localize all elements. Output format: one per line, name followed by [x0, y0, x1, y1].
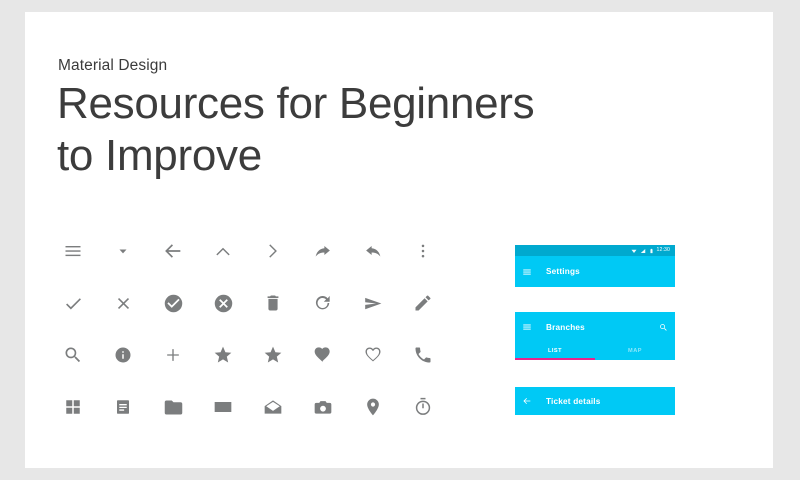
delete-icon[interactable] [248, 277, 298, 329]
tab-indicator [515, 358, 595, 361]
status-bar: 12:30 [515, 245, 675, 256]
send-icon[interactable] [348, 277, 398, 329]
menu-icon[interactable] [48, 225, 98, 277]
timer-icon[interactable] [398, 381, 448, 433]
tab-bar: LIST MAP [515, 342, 675, 360]
arrow-left-icon[interactable] [148, 225, 198, 277]
app-bar-title: Settings [546, 267, 580, 276]
check-icon[interactable] [48, 277, 98, 329]
cancel-circle-icon[interactable] [198, 277, 248, 329]
mail-closed-icon[interactable] [198, 381, 248, 433]
icon-grid [48, 225, 448, 433]
edit-icon[interactable] [398, 277, 448, 329]
heart-outline-icon[interactable] [348, 329, 398, 381]
menu-icon[interactable] [522, 322, 532, 332]
tab-map[interactable]: MAP [595, 342, 675, 360]
icon-row [48, 381, 448, 433]
mail-open-icon[interactable] [248, 381, 298, 433]
page-title: Resources for Beginners to Improve [57, 78, 657, 182]
phone-icon[interactable] [398, 329, 448, 381]
grid-icon[interactable] [48, 381, 98, 433]
star-icon[interactable] [248, 329, 298, 381]
star-icon[interactable] [198, 329, 248, 381]
battery-icon [649, 248, 654, 254]
slide-canvas: Material Design Resources for Beginners … [25, 12, 773, 468]
app-bar: Settings [515, 256, 675, 287]
wifi-icon [631, 248, 637, 254]
article-icon[interactable] [98, 381, 148, 433]
refresh-icon[interactable] [298, 277, 348, 329]
icon-row [48, 277, 448, 329]
reply-arrow-icon[interactable] [348, 225, 398, 277]
share-arrow-icon[interactable] [298, 225, 348, 277]
signal-icon [640, 248, 646, 254]
info-icon[interactable] [98, 329, 148, 381]
icon-row [48, 225, 448, 277]
camera-icon[interactable] [298, 381, 348, 433]
close-icon[interactable] [98, 277, 148, 329]
check-circle-icon[interactable] [148, 277, 198, 329]
app-bar: Branches [515, 312, 675, 342]
app-bar-card-ticket-details: Ticket details [515, 387, 675, 415]
app-bar-title: Ticket details [546, 397, 601, 406]
status-time: 12:30 [657, 248, 670, 253]
app-bar-card-settings: 12:30 Settings [515, 245, 675, 287]
page-title-line-2: to Improve [57, 130, 657, 182]
arrow-left-icon[interactable] [522, 396, 532, 406]
page-title-line-1: Resources for Beginners [57, 78, 657, 130]
icon-row [48, 329, 448, 381]
folder-icon[interactable] [148, 381, 198, 433]
dropdown-triangle-icon[interactable] [98, 225, 148, 277]
chevron-up-icon[interactable] [198, 225, 248, 277]
app-bar: Ticket details [515, 387, 675, 415]
location-pin-icon[interactable] [348, 381, 398, 433]
chevron-right-icon[interactable] [248, 225, 298, 277]
plus-icon[interactable] [148, 329, 198, 381]
app-bar-card-branches: Branches LIST MAP [515, 312, 675, 360]
app-bar-title: Branches [546, 323, 585, 332]
search-icon[interactable] [659, 323, 668, 332]
heart-filled-icon[interactable] [298, 329, 348, 381]
search-icon[interactable] [48, 329, 98, 381]
menu-icon[interactable] [522, 267, 532, 277]
more-vertical-icon[interactable] [398, 225, 448, 277]
eyebrow-label: Material Design [58, 57, 167, 75]
